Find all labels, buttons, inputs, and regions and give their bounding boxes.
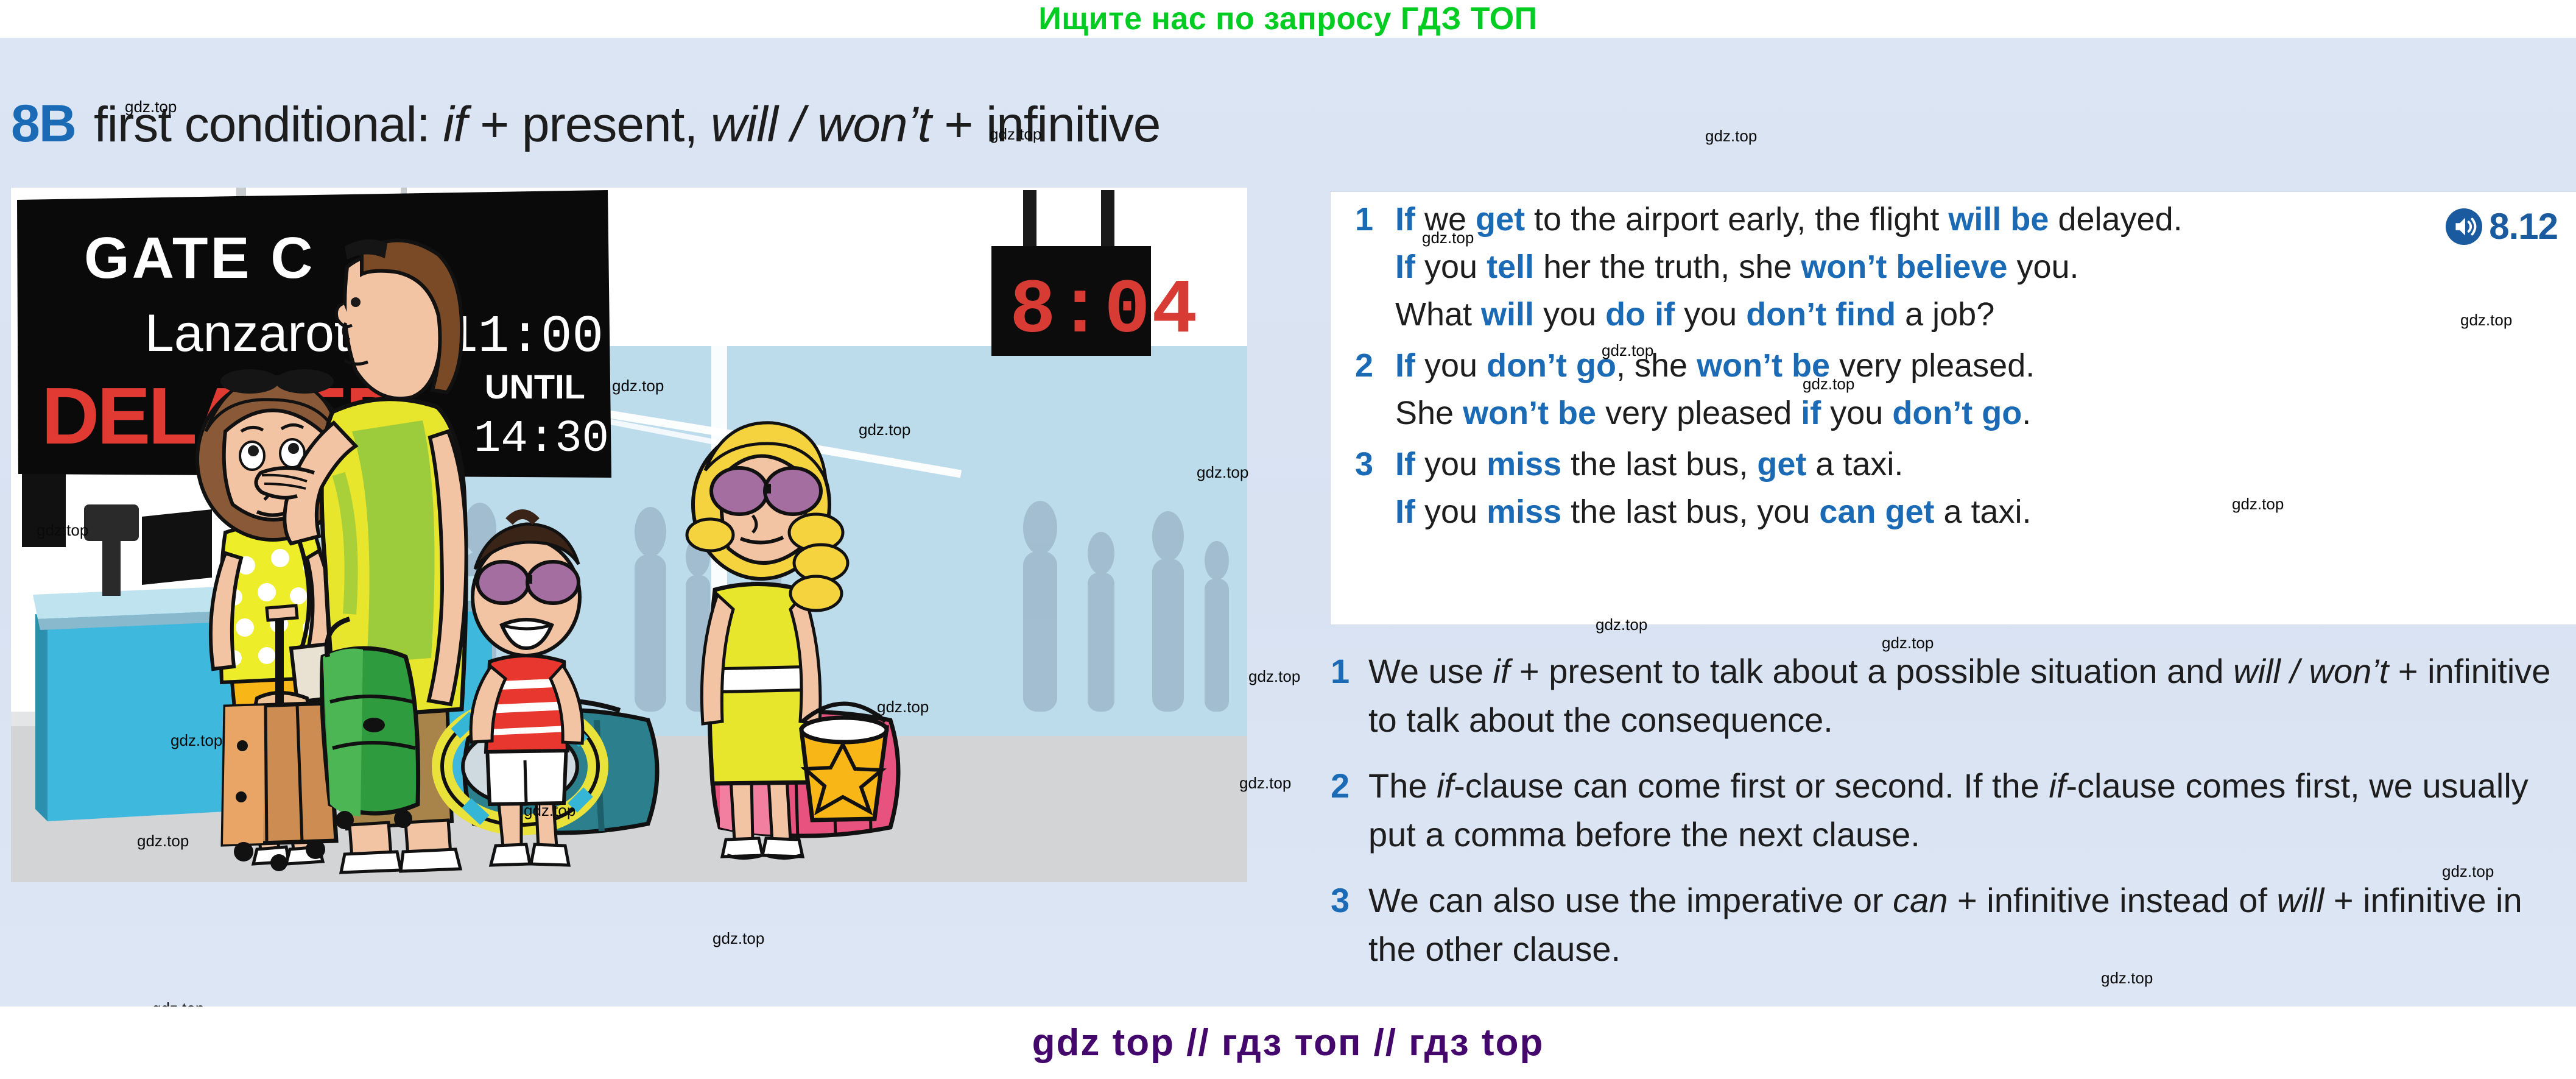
page-title: 8B first conditional: if + present, will…	[11, 94, 1160, 167]
plain-phrase: a job?	[1896, 296, 1994, 333]
plain-phrase: very pleased.	[1830, 347, 2035, 384]
rule-italic-term: if	[1437, 766, 1454, 805]
plain-phrase: very pleased	[1596, 395, 1801, 431]
title-italic-will-wont: will / won’t	[711, 97, 931, 152]
rule-plain-text: The	[1368, 766, 1437, 805]
site-footer: gdz top // гдз топ // гдз top	[0, 1006, 2576, 1079]
plain-phrase: you	[1415, 249, 1487, 285]
rule-text: We use if + present to talk about a poss…	[1368, 647, 2576, 745]
title-segment-1: first conditional:	[94, 97, 443, 152]
wall-clock-time: 8:04	[1010, 267, 1198, 355]
example-number: 3	[1355, 440, 1395, 488]
plain-phrase: to the airport early, the flight	[1525, 201, 1948, 238]
highlight-phrase: don’t go	[1487, 347, 1616, 384]
highlight-phrase: will be	[1948, 201, 2049, 238]
speaker-icon[interactable]	[2445, 208, 2483, 246]
example-group: 3If you miss the last bus, get a taxi.If…	[1331, 440, 2576, 536]
highlight-phrase: will	[1481, 296, 1534, 333]
plain-phrase: the last bus, you	[1561, 494, 1819, 530]
beach-bucket	[801, 704, 887, 820]
grammar-rule: 2The if-clause can come first or second.…	[1331, 762, 2576, 859]
highlight-phrase: If	[1395, 446, 1415, 483]
examples-panel: 8.12 1If we get to the airport early, th…	[1331, 192, 2576, 624]
rule-number: 2	[1331, 762, 1368, 810]
example-sentence: What will you do if you don’t find a job…	[1395, 291, 2576, 338]
highlight-phrase: If	[1395, 249, 1415, 285]
example-sentence: She won’t be very pleased if you don’t g…	[1395, 389, 2576, 437]
highlight-phrase: miss	[1487, 494, 1561, 530]
example-sentence: If you miss the last bus, you can get a …	[1395, 488, 2576, 536]
plain-phrase: you	[1415, 446, 1487, 483]
example-group: 2If you don’t go, she won’t be very plea…	[1331, 342, 2576, 437]
grammar-rule: 1We use if + present to talk about a pos…	[1331, 647, 2576, 745]
highlight-phrase: get	[1476, 201, 1525, 238]
illustration-svg: GATE C Lanzarote 11:00 DELAYED UNTIL 14:…	[11, 188, 1247, 882]
grammar-rules-list: 1We use if + present to talk about a pos…	[1331, 647, 2576, 991]
board-until-time: 14:30	[474, 414, 609, 465]
rule-text: We can also use the imperative or can + …	[1368, 876, 2576, 974]
rule-italic-term: will / won’t	[2233, 652, 2388, 690]
rule-number: 3	[1331, 876, 1368, 925]
highlight-phrase: won’t be	[1463, 395, 1596, 431]
rule-italic-term: can	[1893, 881, 1948, 919]
highlight-phrase: If	[1395, 494, 1415, 530]
plain-phrase: What	[1395, 296, 1481, 333]
rule-plain-text: + infinitive instead of	[1948, 881, 2276, 919]
promo-banner-text: Ищите нас по запросу ГДЗ ТОП	[1038, 0, 1537, 38]
example-lines: If you don’t go, she won’t be very pleas…	[1395, 342, 2576, 437]
rule-text: The if-clause can come first or second. …	[1368, 762, 2576, 859]
title-italic-if: if	[443, 97, 466, 152]
example-number: 1	[1355, 196, 1395, 243]
example-sentence: If you don’t go, she won’t be very pleas…	[1395, 342, 2576, 389]
rule-italic-term: will	[2277, 881, 2324, 919]
highlight-phrase: don’t find	[1746, 296, 1896, 333]
highlight-phrase: won’t believe	[1801, 249, 2007, 285]
plain-phrase: She	[1395, 395, 1463, 431]
example-sentence: If we get to the airport early, the flig…	[1395, 196, 2576, 243]
rule-plain-text: + present to talk about a possible situa…	[1510, 652, 2233, 690]
highlight-phrase: won’t be	[1697, 347, 1830, 384]
highlight-phrase: can get	[1819, 494, 1934, 530]
highlight-phrase: If	[1395, 201, 1415, 238]
textbook-page: 8B first conditional: if + present, will…	[0, 38, 2576, 1006]
highlight-phrase: miss	[1487, 446, 1561, 483]
highlight-phrase: do if	[1605, 296, 1675, 333]
highlight-phrase: if	[1801, 395, 1821, 431]
rule-plain-text: We use	[1368, 652, 1493, 690]
title-segment-3: + infinitive	[931, 97, 1161, 152]
highlight-phrase: tell	[1487, 249, 1534, 285]
highlight-phrase: If	[1395, 347, 1415, 384]
grammar-rule: 3We can also use the imperative or can +…	[1331, 876, 2576, 974]
rule-number: 1	[1331, 647, 1368, 696]
examples-list: 1If we get to the airport early, the fli…	[1331, 196, 2576, 536]
example-number: 2	[1355, 342, 1395, 389]
audio-track-badge[interactable]: 8.12	[2445, 205, 2558, 247]
plain-phrase: a taxi.	[1806, 446, 1903, 483]
rule-plain-text: -clause can come first or second. If the	[1454, 766, 2049, 805]
plain-phrase: you	[1675, 296, 1746, 333]
plain-phrase: you.	[2007, 249, 2078, 285]
example-lines: If you miss the last bus, get a taxi.If …	[1395, 440, 2576, 536]
plain-phrase: the last bus,	[1561, 446, 1757, 483]
plain-phrase: you	[1821, 395, 1892, 431]
watermark-label: gdz.top	[1248, 668, 1300, 684]
board-gate-text: GATE C	[84, 225, 315, 291]
plain-phrase: a taxi.	[1934, 494, 2031, 530]
title-segment-2: + present,	[466, 97, 711, 152]
example-lines: If we get to the airport early, the flig…	[1395, 196, 2576, 338]
site-promo-banner: Ищите нас по запросу ГДЗ ТОП	[0, 0, 2576, 38]
plain-phrase: , she	[1616, 347, 1697, 384]
plain-phrase: her the truth, she	[1534, 249, 1801, 285]
plain-phrase: delayed.	[2049, 201, 2182, 238]
plain-phrase: you	[1415, 347, 1487, 384]
rule-italic-term: if	[2049, 766, 2066, 805]
grammar-topic-title: first conditional: if + present, will / …	[94, 96, 1160, 154]
audio-track-number: 8.12	[2489, 205, 2558, 247]
example-sentence: If you miss the last bus, get a taxi.	[1395, 440, 2576, 488]
unit-code-badge: 8B	[11, 94, 76, 154]
board-until-label: UNTIL	[485, 367, 585, 406]
highlight-phrase: don’t go	[1892, 395, 2022, 431]
footer-text: gdz top // гдз топ // гдз top	[1032, 1006, 1544, 1079]
watermark-label: gdz.top	[713, 930, 764, 946]
highlight-phrase: get	[1757, 446, 1806, 483]
plain-phrase: .	[2022, 395, 2031, 431]
plain-phrase: you	[1534, 296, 1605, 333]
rule-plain-text: We can also use the imperative or	[1368, 881, 1893, 919]
plain-phrase: we	[1415, 201, 1476, 238]
watermark-label: gdz.top	[1705, 128, 1757, 144]
airport-scene-illustration: GATE C Lanzarote 11:00 DELAYED UNTIL 14:…	[11, 188, 1247, 882]
example-sentence: If you tell her the truth, she won’t bel…	[1395, 243, 2576, 291]
board-time-text: 11:00	[446, 307, 604, 367]
rule-italic-term: if	[1493, 652, 1510, 690]
example-group: 1If we get to the airport early, the fli…	[1331, 196, 2576, 338]
plain-phrase: you	[1415, 494, 1487, 530]
